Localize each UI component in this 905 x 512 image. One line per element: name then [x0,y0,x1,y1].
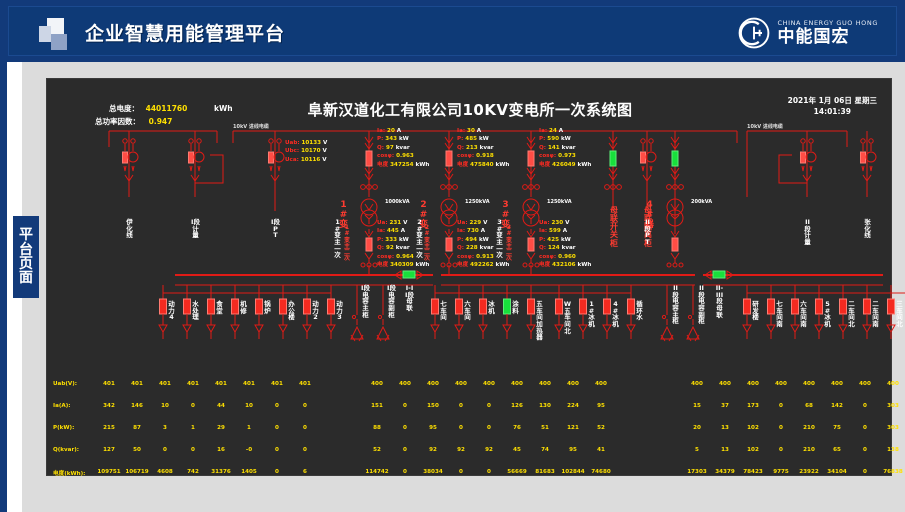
meter-key: cosφ: [377,254,394,260]
table-cell: 0 [446,469,476,475]
table-cell: 400 [446,381,476,387]
meter-line: 电度 426049 kWh [539,161,591,169]
meter-key: Q: [457,145,464,151]
meter-line: P: 425 kW [539,236,591,244]
meter-unit: V [322,148,326,154]
table-cell: 0 [446,425,476,431]
equipment-label: 伊​化​线 [125,219,134,239]
meter-value: 475840 [470,162,493,168]
feeder-right-5[interactable] [839,299,847,345]
table-cell: 150 [418,403,448,409]
meter-value: 0.973 [558,153,576,159]
hv-pt-section-2[interactable] [639,137,655,199]
feeder-label: 动​力​2 [311,301,320,321]
meter-value: 599 [549,228,561,234]
feeder-left-2[interactable] [183,299,191,345]
table-cell: 102844 [558,469,588,475]
meter-line: P: 590 kW [539,135,591,143]
table-cell: 210 [794,425,824,431]
table-cell: 138 [878,447,905,453]
table-cell: 0 [766,425,796,431]
feeder-label: 机​修 [239,301,248,314]
meter-key: cosφ: [457,254,474,260]
table-cell: 78423 [738,469,768,475]
table-cell: 121 [558,425,588,431]
table-cell: 37 [710,403,740,409]
meter-line: Ua: 230 V [539,219,591,227]
meter-unit: A [481,228,485,234]
equipment-label: I​I​段​计​量 [803,219,812,246]
capacitor-label: I​段​电​容​主​柜 [361,285,370,318]
meter-value: 730 [467,228,479,234]
table-cell: 400 [878,381,905,387]
feeder-right-3[interactable] [791,299,799,345]
meter-value: 141 [548,145,560,151]
meter-value: 230 [552,220,564,226]
equipment-label: 3​#​变​主​一​次 [495,219,504,259]
meter-value: 0.913 [476,254,494,260]
table-cell: 10 [150,403,180,409]
equipment-label: I​I​段​P​T [643,219,652,246]
meter-line: Ia: 30 A [457,127,509,135]
table-cell: 92 [474,447,504,453]
meter-unit: kvar [396,145,410,151]
meter-line: P: 485 kW [457,135,509,143]
sld-diagram-board: 总电度： 44011760 kWh 总功率因数： 0.947 阜新汉道化工有限公… [46,78,892,476]
table-cell: 87 [122,425,152,431]
equipment-label: 张​化​线 [863,219,872,239]
meter-unit: A [397,128,401,134]
feeder-left-4[interactable] [231,299,239,345]
table-cell: 0 [766,403,796,409]
meter-value: 30 [467,128,475,134]
feeder-mid-5[interactable] [527,299,535,345]
table-cell: 92 [418,447,448,453]
table-cell: 0 [390,403,420,409]
feeder-label: 水​处​理 [191,301,200,321]
table-cell: 401 [178,381,208,387]
brand-logo: CHINA ENERGY GUO HONG 中能国宏 [738,15,878,51]
meter-line: Uca: 10116 V [285,156,327,164]
meter-line: 电度 432106 kWh [539,261,591,269]
table-cell: 400 [794,381,824,387]
meter-key: cosφ: [457,153,474,159]
meter-key: Ia: [457,128,465,134]
table-cell: 41 [586,447,616,453]
table-cell: 400 [766,381,796,387]
table-cell: 50 [122,447,152,453]
meter-line: cosφ: 0.918 [457,152,509,160]
table-cell: 401 [150,381,180,387]
table-cell: 126 [502,403,532,409]
equipment-label: I​段​P​T [271,219,280,239]
feeder-mid-3[interactable] [479,299,487,345]
meter-key: Q: [539,245,546,251]
meter-value: 10133 [302,140,321,146]
app-header: 企业智慧用能管理平台 CHINA ENERGY GUO HONG 中能国宏 [0,0,905,62]
table-cell: 401 [206,381,236,387]
table-cell: 76838 [878,469,905,475]
table-cell: 400 [558,381,588,387]
hv-metering-section-2[interactable] [799,137,815,199]
table-cell: 92 [446,447,476,453]
meter-value: 92 [386,245,394,251]
table-cell: 74 [530,447,560,453]
meter-key: 电度 [539,262,550,268]
header-bar: 企业智慧用能管理平台 CHINA ENERGY GUO HONG 中能国宏 [8,6,897,56]
feeder-right-7[interactable] [887,299,895,345]
brand-circle-icon [738,17,770,49]
feeder-mid-1[interactable] [431,299,439,345]
meter-key: Q: [377,145,384,151]
meter-unit: A [477,128,481,134]
table-cell: 1 [234,425,264,431]
table-cell: 0 [290,447,320,453]
table-cell: 76 [502,425,532,431]
table-cell: 0 [850,447,880,453]
meter-unit: kWh [577,262,591,268]
table-cell: 10 [234,403,264,409]
table-cell: 56669 [502,469,532,475]
table-cell: 400 [850,381,880,387]
hv-breaker-566[interactable] [604,135,622,197]
meter-value: 340309 [390,262,413,268]
meter-line: P: 343 kW [377,135,429,143]
bus-tie-1-2[interactable] [395,269,423,283]
table-cell: 400 [530,381,560,387]
app-title: 企业智慧用能管理平台 [85,19,285,46]
table-row-label: P(kW): [53,425,74,431]
table-cell: 0 [262,447,292,453]
meter-key: 电度 [377,262,388,268]
meter-unit: kW [479,136,489,142]
capacitor-label: I​I​段​电​容​副​柜 [697,285,706,325]
hv-pt-section-1[interactable] [267,137,283,199]
meter-key: P: [377,136,383,142]
feeder-label: 涂​料 [511,301,520,314]
table-cell: 95 [586,403,616,409]
table-cell: 0 [850,425,880,431]
brand-chinese: 中能国宏 [777,29,878,46]
table-cell: 68 [794,403,824,409]
meter-value: 425 [547,237,559,243]
meter-line: Ubc: 10170 V [285,147,327,155]
feeder-right-2[interactable] [767,299,775,345]
meter-value: 494 [465,237,477,243]
meter-line: 电度 492262 kWh [457,261,509,269]
hv-meter-3: Ia: 30 AP: 485 kWQ: 213 kvarcosφ: 0.918 … [457,127,509,169]
feeder-label: 动​力​3 [335,301,344,321]
feeder-label: 食​堂 [215,301,224,314]
meter-unit: kWh [415,162,429,168]
table-cell: 401 [94,381,124,387]
table-row: Q(kvar):127500016-0005209292924574954151… [47,441,893,463]
table-cell: 400 [362,381,392,387]
meter-unit: kWh [495,262,509,268]
table-cell: 400 [474,381,504,387]
feeder-mid-7[interactable] [579,299,587,345]
feeder-right-4[interactable] [815,299,823,345]
meter-value: 231 [390,220,402,226]
meter-line: 电度 475840 kWh [457,161,509,169]
table-cell: 0 [290,425,320,431]
table-cell: 146 [122,403,152,409]
table-cell: 51 [530,425,560,431]
table-cell: 0 [474,469,504,475]
meter-key: 电度 [457,262,468,268]
meter-value: 485 [465,136,477,142]
table-cell: 400 [390,381,420,387]
table-cell: 401 [234,381,264,387]
transformer-rating: 1000kVA [385,199,410,205]
bus-tie-label: I​-​I​I​段​母​联 [405,285,414,312]
meter-unit: kW [561,237,571,243]
table-cell: 0 [178,447,208,453]
table-cell: 88 [362,425,392,431]
hv-breaker-484[interactable] [522,135,540,197]
table-cell: 4608 [150,469,180,475]
table-cell: 102 [738,447,768,453]
table-cell: 102 [738,425,768,431]
table-cell: 0 [390,425,420,431]
meter-unit: V [403,220,407,226]
equipment-label: I​段​计​量 [191,219,200,239]
measurement-table: Uab(V):401401401401401401401401400400400… [47,375,893,485]
feeder-left-3[interactable] [207,299,215,345]
table-cell: 23922 [794,469,824,475]
meter-value: 229 [470,220,482,226]
feeder-label: 5​#​冰​机 [823,301,832,328]
transformer-secondary-breaker[interactable] [360,229,378,267]
feeder-label: 锅​炉 [263,301,272,314]
feeder-label: 七​车​间​南 [775,301,784,328]
bus-tie-2-3[interactable] [705,269,733,283]
meter-unit: kW [479,237,489,243]
meter-line: cosφ: 0.973 [539,152,591,160]
feeder-right-1[interactable] [743,299,751,345]
meter-key: Ia: [539,228,547,234]
table-cell: 13 [710,447,740,453]
table-row-label: Ia(A): [53,403,71,409]
meter-line: Uab: 10133 V [285,139,327,147]
feeder-label: 二​车​间​北 [847,301,856,328]
table-cell: 0 [290,403,320,409]
table-cell: 400 [502,381,532,387]
meter-line: Ia: 24 A [539,127,591,135]
transformer-4 [662,197,688,231]
application-root: 企业智慧用能管理平台 CHINA ENERGY GUO HONG 中能国宏 平台… [0,0,905,512]
hv-meter-4: Ia: 24 AP: 590 kWQ: 141 kvarcosφ: 0.973 … [539,127,591,169]
table-row: P(kW):2158731291008809500765112152201310… [47,419,893,441]
feeder-label: 动​力​4 [167,301,176,321]
table-cell: 342 [94,403,124,409]
table-row-label: Uab(V): [53,381,77,387]
table-cell: 20 [682,425,712,431]
hv-breaker-322[interactable] [360,135,378,197]
table-cell: 151 [362,403,392,409]
feeder-mid-4[interactable] [503,299,511,345]
table-cell: 303 [878,403,905,409]
meter-key: Ia: [377,228,385,234]
transformer-rating: 200kVA [691,199,712,205]
capacitor-label: I​I​段​电​容​主​柜 [671,285,680,325]
lv-meter-3: Ua: 230 VIa: 599 AP: 425 kWQ: 124 kvarco… [539,219,591,269]
meter-value: 10170 [301,148,320,154]
meter-key: Ua: [377,220,388,226]
table-cell: 95 [558,447,588,453]
feeder-left-6[interactable] [279,299,287,345]
meter-value: 445 [387,228,399,234]
table-cell: 0 [262,425,292,431]
feeder-label: 循​环​水 [635,301,644,321]
logo-icon [39,18,73,50]
table-cell: 109751 [94,469,124,475]
meter-line: cosφ: 0.960 [539,253,591,261]
meter-line: cosφ: 0.963 [377,152,429,160]
feeder-mid-2[interactable] [455,299,463,345]
table-cell: 6 [290,469,320,475]
hv-meter-2: Ia: 20 AP: 343 kWQ: 97 kvarcosφ: 0.963 电… [377,127,429,169]
table-cell: 106719 [122,469,152,475]
table-cell: 3 [150,425,180,431]
meter-value: 426049 [552,162,575,168]
sidebar-item-label: 平台页面 [13,228,39,285]
meter-value: 347254 [390,162,413,168]
table-cell: 142 [822,403,852,409]
hv-line-yihua[interactable] [121,137,137,199]
meter-value: 24 [549,128,557,134]
hv-breaker-628[interactable] [666,135,684,197]
table-row: 电度(kWh):10975110671946087423137614050611… [47,463,893,485]
table-cell: 0 [474,403,504,409]
logo-square-3 [51,34,67,50]
table-cell: 127 [94,447,124,453]
table-cell: 215 [94,425,124,431]
meter-value: 492262 [470,262,493,268]
meter-value: 124 [548,245,560,251]
table-cell: 400 [586,381,616,387]
feeder-mid-6[interactable] [555,299,563,345]
meter-unit: A [401,228,405,234]
feeder-left-7[interactable] [303,299,311,345]
meter-value: 333 [385,237,397,243]
table-cell: 29 [206,425,236,431]
meter-key: P: [457,136,463,142]
meter-value: 228 [466,245,478,251]
feeder-left-5[interactable] [255,299,263,345]
feeder-left-8[interactable] [327,299,335,345]
table-cell: 75 [822,425,852,431]
table-cell: 65 [822,447,852,453]
table-cell: 114742 [362,469,392,475]
table-cell: 0 [850,469,880,475]
meter-unit: kvar [562,245,576,251]
feeder-mid-8[interactable] [603,299,611,345]
feeder-mid-9[interactable] [627,299,635,345]
table-cell: 0 [390,469,420,475]
meter-value: 213 [466,145,478,151]
table-cell: 45 [502,447,532,453]
meter-key: Ia: [457,228,465,234]
meter-key: Ia: [539,128,547,134]
meter-unit: kW [561,136,571,142]
meter-key: Ua: [539,220,550,226]
table-cell: 0 [262,469,292,475]
table-cell: 303 [878,425,905,431]
hv-metering-section-1[interactable] [187,137,203,199]
feeder-label: 二​车​间​南 [871,301,880,328]
table-cell: 400 [418,381,448,387]
feeder-label: 五​车​间​加​热​器 [535,301,544,341]
meter-unit: kvar [396,245,410,251]
meter-unit: kWh [415,262,429,268]
meter-line: Q: 124 kvar [539,244,591,252]
table-cell: 400 [710,381,740,387]
hv-line-zhanghua[interactable] [859,137,875,199]
meter-key: 电度 [457,162,468,168]
meter-key: P: [457,237,463,243]
meter-key: cosφ: [539,254,556,260]
table-cell: 0 [474,425,504,431]
meter-key: Ia: [377,128,385,134]
table-cell: -0 [234,447,264,453]
transformer-secondary-breaker[interactable] [666,229,684,267]
meter-key: P: [539,136,545,142]
table-cell: 0 [178,403,208,409]
meter-unit: kvar [562,145,576,151]
table-cell: 130 [530,403,560,409]
meter-key: Uab: [285,140,300,146]
transformer-secondary-breaker[interactable] [440,229,458,267]
table-row: Ia(A):3421461004410001510150001261302249… [47,397,893,419]
table-cell: 9775 [766,469,796,475]
table-cell: 95 [418,425,448,431]
table-cell: 44 [206,403,236,409]
bus-tie-label: I​I​-​I​I​I​段​母​联 [715,285,724,318]
meter-value: 432106 [552,262,575,268]
table-cell: 0 [766,447,796,453]
table-cell: 1405 [234,469,264,475]
meter-value: 0.964 [396,254,414,260]
table-cell: 401 [122,381,152,387]
capacitor-label: I​段​电​容​副​柜 [387,285,396,318]
table-cell: 5 [682,447,712,453]
meter-key: cosφ: [539,153,556,159]
sidebar-item-platform-page[interactable]: 平台页面 [13,216,39,298]
meter-unit: A [559,128,563,134]
feeder-right-6[interactable] [863,299,871,345]
meter-key: 电度 [539,162,550,168]
meter-line: Ia: 20 A [377,127,429,135]
table-row: Uab(V):401401401401401401401401400400400… [47,375,893,397]
table-cell: 0 [390,447,420,453]
transformer-secondary-breaker[interactable] [522,229,540,267]
table-cell: 17303 [682,469,712,475]
meter-unit: kvar [480,145,494,151]
meter-key: Q: [377,245,384,251]
brand-text: CHINA ENERGY GUO HONG 中能国宏 [777,20,878,47]
meter-unit: V [483,220,487,226]
table-cell: 224 [558,403,588,409]
table-cell: 15 [682,403,712,409]
hv-breaker-402[interactable] [440,135,458,197]
meter-unit: V [322,157,326,163]
table-row-label: 电度(kWh): [53,469,85,477]
hv-meter-1: Uab: 10133 VUbc: 10170 VUca: 10116 V [285,139,327,164]
table-cell: 34104 [822,469,852,475]
meter-key: Q: [457,245,464,251]
feeder-left-1[interactable] [159,299,167,345]
